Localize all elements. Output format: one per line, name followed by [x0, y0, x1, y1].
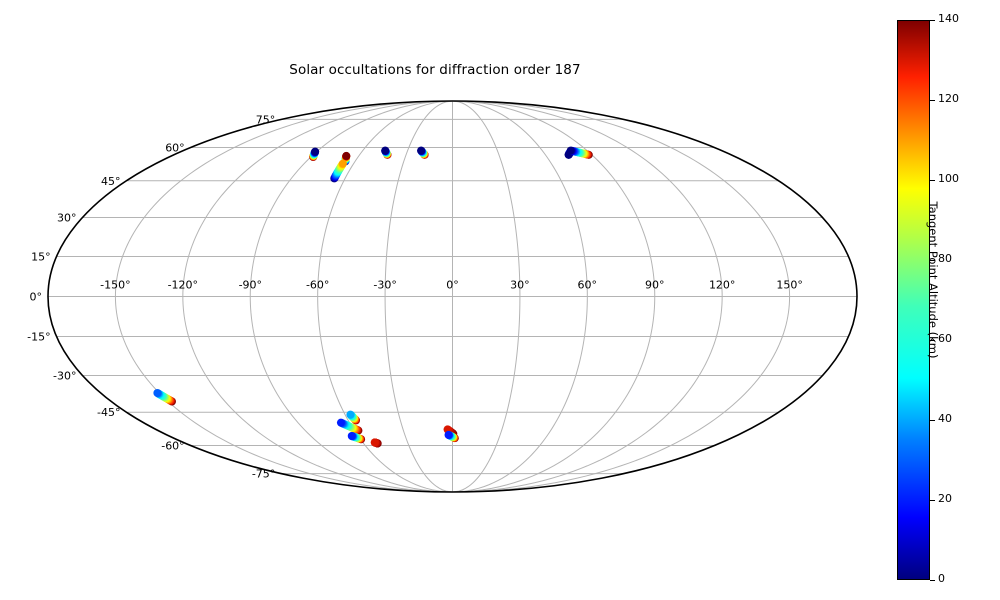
latitude-tick-label: -60°: [161, 440, 184, 453]
occultation-point: [348, 432, 356, 440]
colorbar-label: Tangent Point Altitude (km): [917, 0, 950, 560]
latitude-tick-label: -45°: [97, 406, 120, 419]
occultation-point: [381, 147, 389, 155]
occultation-point: [371, 438, 379, 446]
longitude-tick-labels: -150°-120°-90°-60°-30°0°30°60°90°120°150…: [100, 279, 803, 292]
longitude-tick-label: 30°: [510, 279, 530, 292]
latitude-tick-label: -15°: [27, 331, 50, 344]
occultation-point: [417, 147, 425, 155]
latitude-tick-label: 30°: [57, 212, 77, 225]
longitude-tick-label: -60°: [306, 279, 329, 292]
longitude-tick-label: 0°: [446, 279, 459, 292]
latitude-tick-label: 60°: [165, 142, 185, 155]
longitude-tick-label: 90°: [645, 279, 665, 292]
occultation-point: [567, 147, 575, 155]
longitude-tick-label: 120°: [709, 279, 736, 292]
occultation-point: [337, 419, 345, 427]
longitude-tick-label: 150°: [776, 279, 803, 292]
longitude-tick-label: -120°: [168, 279, 198, 292]
mollweide-map: -150°-120°-90°-60°-30°0°30°60°90°120°150…: [0, 0, 1000, 600]
occultation-point: [346, 411, 354, 419]
latitude-tick-label: -30°: [53, 370, 76, 383]
occultation-point: [153, 389, 161, 397]
longitude-tick-label: -150°: [100, 279, 130, 292]
data-points: [153, 147, 592, 448]
occultation-point: [339, 160, 347, 168]
longitude-tick-label: 60°: [578, 279, 598, 292]
latitude-tick-label: 15°: [31, 251, 51, 264]
occultation-point: [342, 152, 350, 160]
latitude-tick-labels: -75°-60°-45°-30°-15°0°15°30°45°60°75°: [27, 113, 275, 480]
occultation-point: [311, 148, 319, 156]
figure-canvas: Solar occultations for diffraction order…: [0, 0, 1000, 600]
latitude-tick-label: -75°: [252, 468, 275, 481]
occultation-point: [445, 431, 453, 439]
longitude-tick-label: -90°: [239, 279, 262, 292]
latitude-tick-label: 75°: [256, 113, 276, 126]
longitude-tick-label: -30°: [373, 279, 396, 292]
latitude-tick-label: 0°: [30, 291, 43, 304]
latitude-tick-label: 45°: [101, 175, 121, 188]
